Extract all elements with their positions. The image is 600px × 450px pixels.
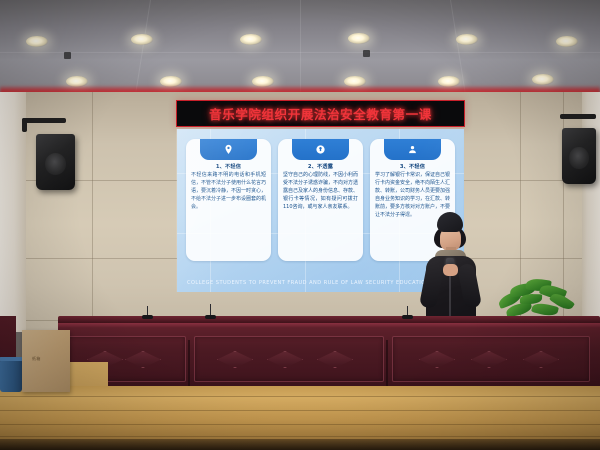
- presenter-beanie: [437, 212, 463, 232]
- slide-card: 1、不轻信 不轻信来路不明的电话和手机短信，不管不法分子使用什么花言巧语，要沉着…: [186, 139, 271, 261]
- ceiling-sensor-icon: [363, 50, 370, 57]
- presenter-hands: [443, 264, 458, 276]
- floor-front-edge: [0, 439, 600, 450]
- podium-panel: [194, 336, 384, 382]
- left-wall-speaker: [36, 134, 75, 190]
- podium-panel: [392, 336, 590, 382]
- slide-card-header: [200, 139, 258, 160]
- right-wall-speaker: [562, 128, 596, 184]
- led-banner: 音乐学院组织开展法治安全教育第一课: [176, 100, 465, 127]
- podium-top-surface: [58, 316, 600, 323]
- ceiling-light: [456, 34, 478, 45]
- slide-english-subtitle: COLLEGE STUDENTS TO PREVENT FRAUD AND RU…: [187, 280, 437, 288]
- ceiling-light: [240, 34, 262, 45]
- person-user-icon: [407, 144, 418, 155]
- slide-card-title: 2、不透露: [308, 163, 333, 170]
- cardboard-box-label: 纸箱: [32, 356, 41, 362]
- podium-front-face: [58, 328, 600, 390]
- slide-card-list: 1、不轻信 不轻信来路不明的电话和手机短信，不管不法分子使用什么花言巧语，要沉着…: [186, 139, 455, 261]
- floor: [0, 386, 600, 450]
- led-banner-text: 音乐学院组织开展法治安全教育第一课: [209, 104, 432, 123]
- left-speaker-post: [22, 118, 27, 132]
- podium: [58, 316, 600, 390]
- slide-card-title: 1、不轻信: [216, 163, 241, 170]
- ceiling-light: [556, 36, 578, 47]
- slide-card-body: 不轻信来路不明的电话和手机短信，不管不法分子使用什么花言巧语，要沉着冷静，不因一…: [186, 171, 271, 211]
- cardboard-box: 纸箱: [22, 330, 70, 392]
- location-pin-icon: [223, 144, 234, 155]
- left-speaker-bracket: [22, 118, 66, 123]
- trash-bin: [0, 360, 22, 392]
- ceiling-light: [532, 74, 554, 85]
- right-speaker-bracket: [560, 114, 596, 119]
- ceiling-light: [26, 36, 48, 47]
- ceiling-light: [131, 34, 153, 45]
- lecture-hall-photo: 音乐学院组织开展法治安全教育第一课 1、不轻信 不轻信来路不明的电话和手机短: [0, 0, 600, 450]
- slide-card-header: [384, 139, 442, 160]
- shield-badge-icon: [315, 144, 326, 155]
- ceiling: [0, 0, 600, 97]
- ceiling-light: [348, 33, 370, 44]
- slide-card: 2、不透露 坚守自己的心理防线，不因小利而受不法分子诱惑诈骗，不向对方透露自己及…: [278, 139, 363, 261]
- slide-card-body: 坚守自己的心理防线，不因小利而受不法分子诱惑诈骗，不向对方透露自己及家人的身份信…: [278, 171, 363, 211]
- ceiling-vent-icon: [64, 52, 71, 59]
- slide-card-header: [292, 139, 350, 160]
- slide-card-title: 3、不轻信: [400, 163, 425, 170]
